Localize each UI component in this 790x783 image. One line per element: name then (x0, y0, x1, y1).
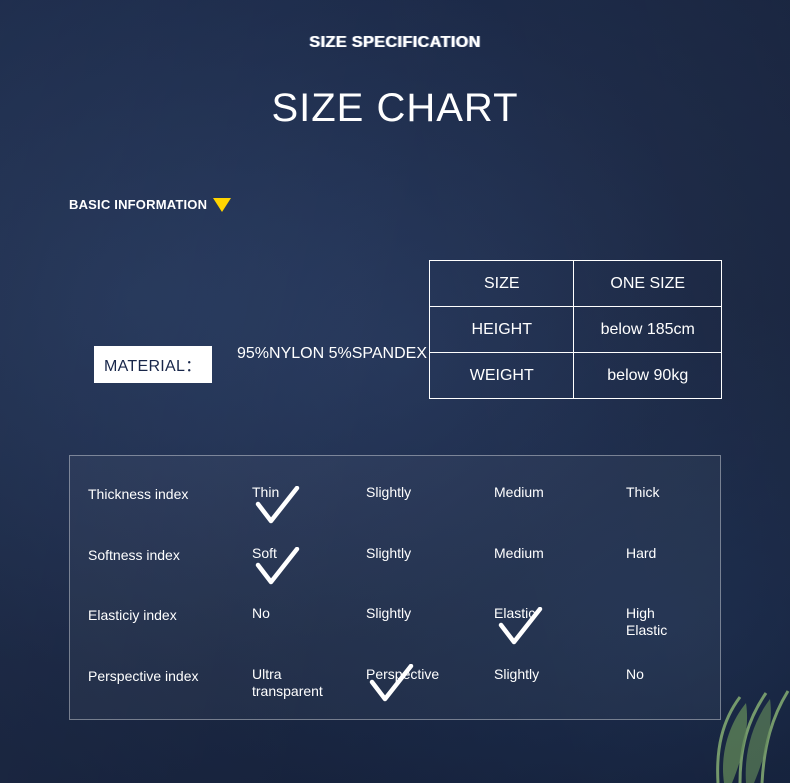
spec-table: SIZE ONE SIZE HEIGHT below 185cm WEIGHT … (429, 260, 722, 399)
index-option[interactable]: Elastic (494, 605, 535, 622)
index-option[interactable]: Slightly (366, 484, 411, 501)
table-row: SIZE ONE SIZE (430, 261, 722, 307)
spec-key: SIZE (430, 261, 574, 307)
index-option[interactable]: Medium (494, 545, 544, 562)
index-option[interactable]: Ultra transparent (252, 666, 323, 700)
table-row: HEIGHT below 185cm (430, 307, 722, 353)
spec-value: below 90kg (574, 353, 722, 399)
index-row-label: Softness index (88, 547, 180, 563)
index-option[interactable]: Slightly (366, 605, 411, 622)
basic-information-label: BASIC INFORMATION (69, 197, 207, 212)
index-row-softness: Softness index Soft Slightly Medium Hard (70, 529, 720, 589)
index-option[interactable]: Slightly (366, 545, 411, 562)
spec-key: HEIGHT (430, 307, 574, 353)
index-option[interactable]: High Elastic (626, 605, 667, 639)
spec-value: below 185cm (574, 307, 722, 353)
index-row-label: Perspective index (88, 668, 199, 684)
index-row-thickness: Thickness index Thin Slightly Medium Thi… (70, 468, 720, 528)
page-title: SIZE CHART (0, 86, 790, 131)
index-option[interactable]: Soft (252, 545, 277, 562)
material-label: MATERIAL： (94, 346, 212, 383)
index-option[interactable]: Medium (494, 484, 544, 501)
index-row-perspective: Perspective index Ultra transparent Pers… (70, 650, 720, 710)
material-values: 95%NYLON 5%SPANDEX (237, 341, 427, 367)
index-row-label: Elasticiy index (88, 607, 177, 623)
index-row-elasticity: Elasticiy index No Slightly Elastic High… (70, 589, 720, 649)
spec-value: ONE SIZE (574, 261, 722, 307)
index-option[interactable]: Thick (626, 484, 659, 501)
triangle-down-icon (213, 198, 231, 212)
index-row-label: Thickness index (88, 486, 188, 502)
size-chart-page: SIZE SPECIFICATION SIZE CHART BASIC INFO… (0, 0, 790, 783)
index-option[interactable]: Slightly (494, 666, 539, 683)
index-option[interactable]: Perspective (366, 666, 439, 683)
index-option[interactable]: No (252, 605, 270, 622)
spec-key: WEIGHT (430, 353, 574, 399)
table-row: WEIGHT below 90kg (430, 353, 722, 399)
index-panel: Thickness index Thin Slightly Medium Thi… (69, 455, 721, 720)
index-option[interactable]: Hard (626, 545, 656, 562)
index-option[interactable]: Thin (252, 484, 279, 501)
page-eyebrow: SIZE SPECIFICATION (0, 34, 790, 52)
index-option[interactable]: No (626, 666, 644, 683)
basic-information-heading: BASIC INFORMATION (69, 196, 231, 212)
